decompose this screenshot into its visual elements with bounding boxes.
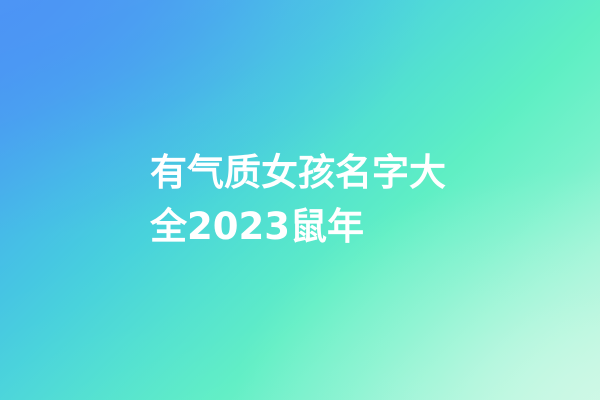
- banner-headline: 有气质女孩名字大全2023鼠年: [150, 146, 452, 254]
- banner-image: 有气质女孩名字大全2023鼠年: [0, 0, 600, 400]
